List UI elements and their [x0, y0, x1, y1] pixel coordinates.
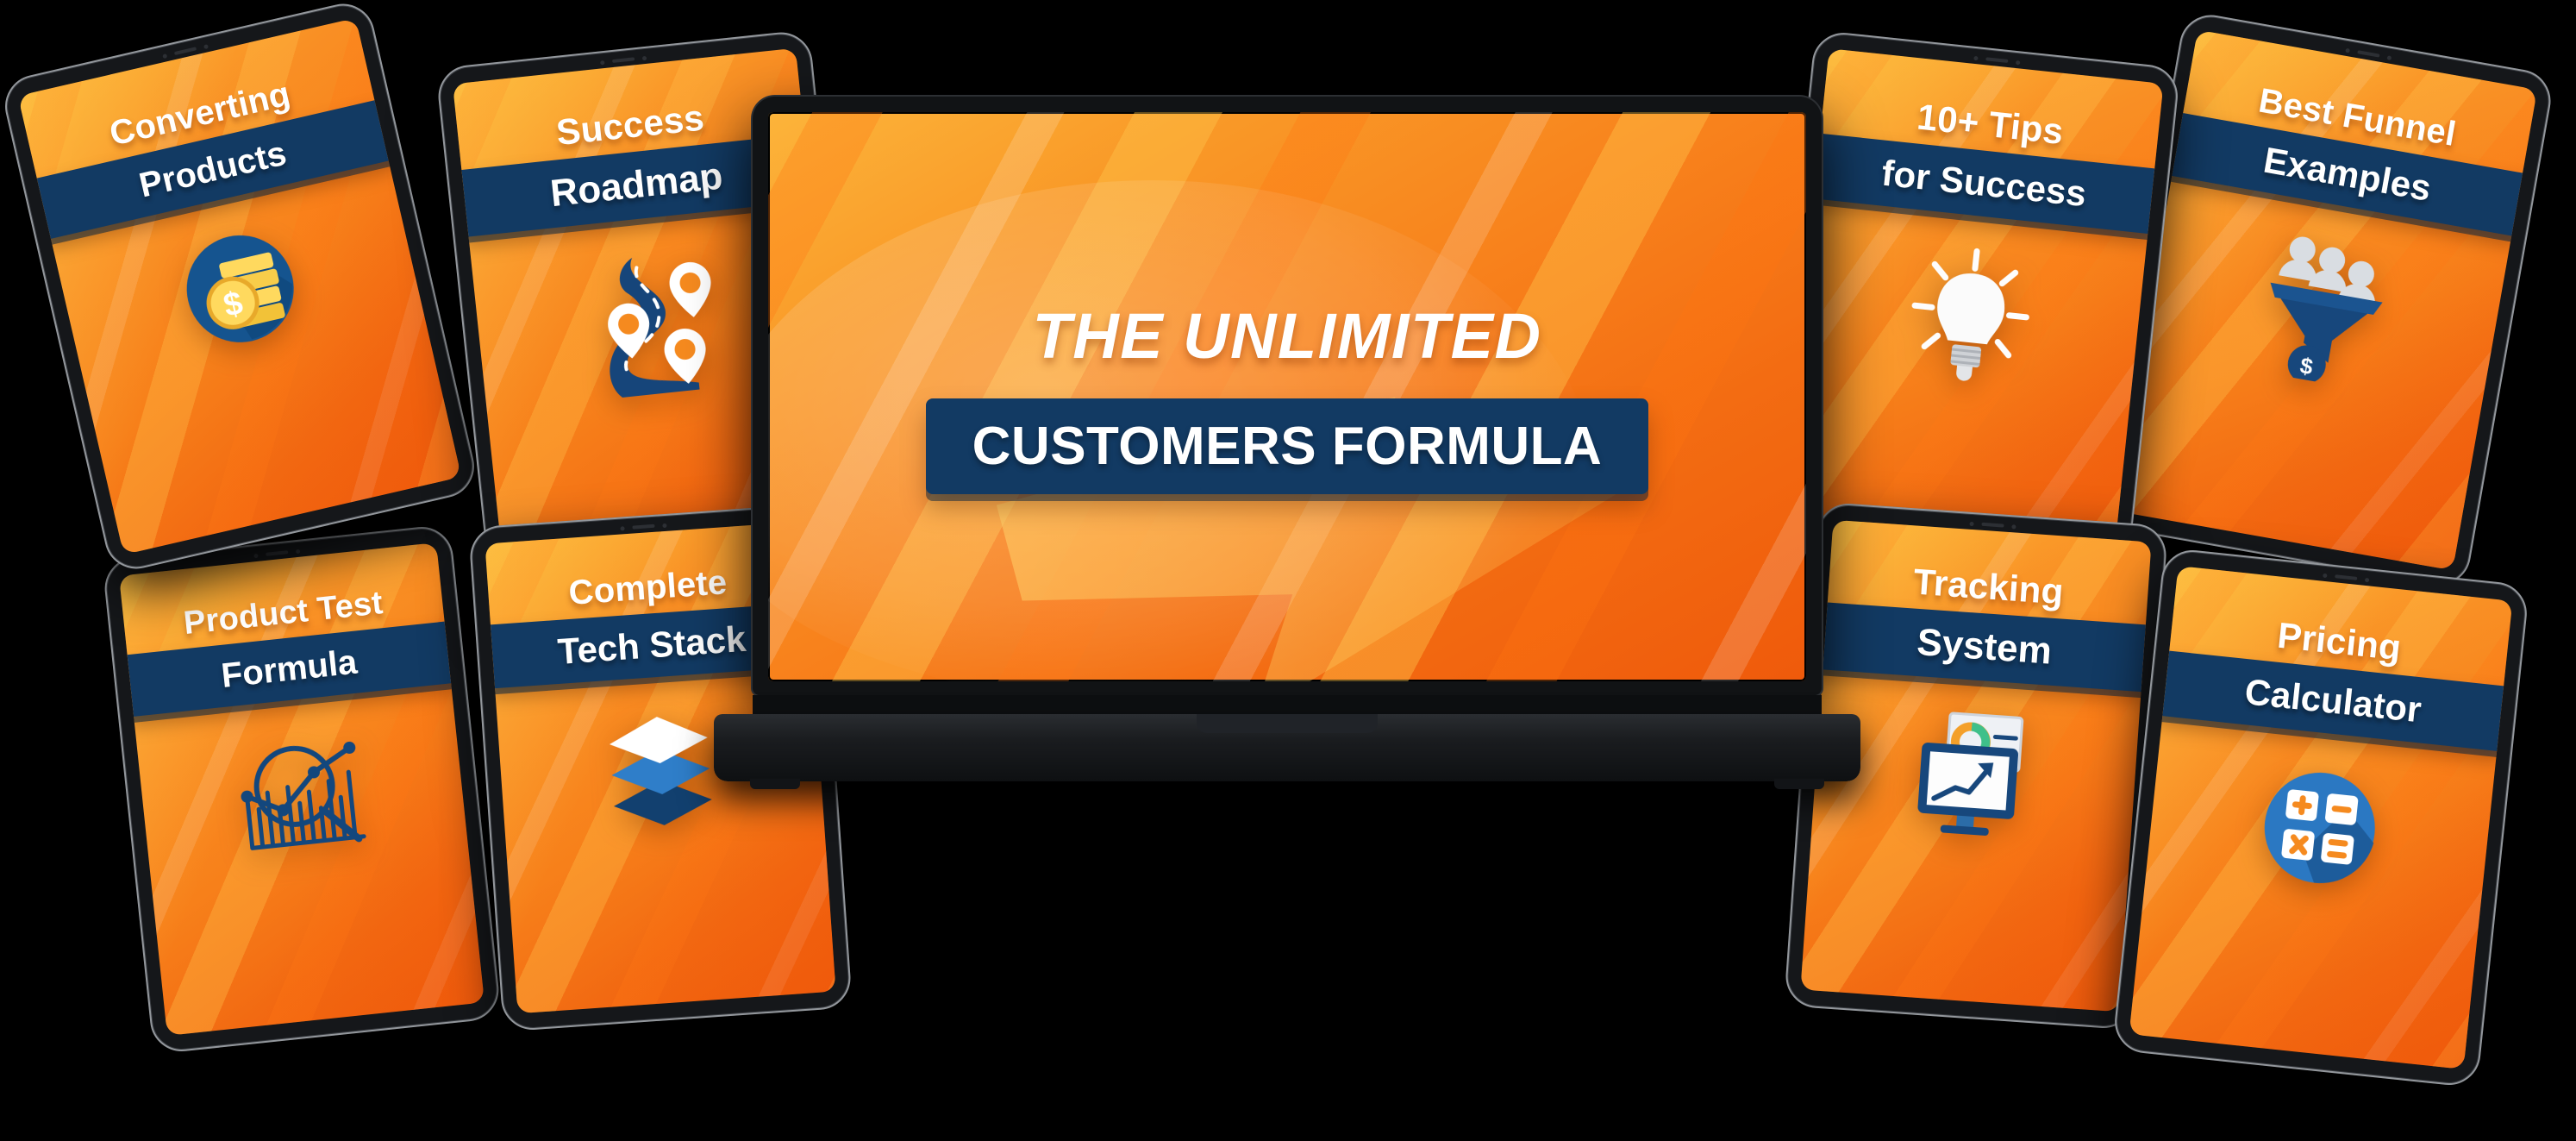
card-title-bottom: Calculator	[2233, 658, 2433, 743]
card-title-band: System	[1816, 602, 2152, 693]
card-title-top: 10+ Tips	[1916, 98, 2066, 150]
monitor-analytics-icon	[1902, 705, 2048, 843]
laptop-device[interactable]: THE UNLIMITED CUSTOMERS FORMULA	[714, 97, 1860, 781]
card-title-bottom: for Success	[1870, 139, 2098, 228]
product-bundle-mockup: Converting Products $	[0, 0, 2576, 1141]
card-title-top: Success	[554, 99, 705, 151]
laptop-base	[714, 714, 1860, 781]
card-title-bottom: Roadmap	[539, 142, 735, 229]
card-screen: Converting Products $	[18, 18, 462, 555]
card-title-top: Tracking	[1912, 564, 2065, 611]
card-screen: Best Funnel Examples	[2113, 30, 2537, 571]
roadmap-pins-icon	[575, 242, 728, 403]
card-screen: Product Test Formula	[119, 542, 485, 1036]
laptop-base-notch	[1197, 714, 1378, 733]
card-product-test-formula[interactable]: Product Test Formula	[104, 527, 498, 1052]
card-title-band: Formula	[121, 621, 457, 718]
laptop-title-band: CUSTOMERS FORMULA	[926, 398, 1649, 494]
calculator-icon	[2248, 756, 2391, 899]
lightbulb-icon	[1898, 240, 2041, 391]
laptop-title-line2: CUSTOMERS FORMULA	[972, 417, 1603, 476]
sales-funnel-icon: $	[2243, 224, 2404, 392]
laptop-screen: THE UNLIMITED CUSTOMERS FORMULA	[768, 112, 1806, 681]
chart-magnifier-icon	[227, 722, 377, 856]
laptop-title-line1: THE UNLIMITED	[1033, 299, 1542, 373]
laptop-foot-left	[750, 779, 800, 789]
card-title-band: Calculator	[2156, 650, 2510, 752]
layers-stack-icon	[591, 702, 728, 831]
card-screen: Pricing Calculator	[2129, 566, 2513, 1069]
card-title-bottom: Formula	[209, 630, 368, 708]
card-title-top: Pricing	[2276, 618, 2403, 667]
card-converting-products[interactable]: Converting Products $	[2, 1, 477, 572]
card-title-bottom: System	[1906, 609, 2063, 686]
card-title-top: Complete	[567, 566, 728, 611]
laptop-foot-right	[1774, 779, 1824, 789]
laptop-hinge	[753, 695, 1822, 714]
money-coins-icon: $	[168, 216, 313, 361]
laptop-lid: THE UNLIMITED CUSTOMERS FORMULA	[753, 97, 1822, 695]
card-pricing-calculator[interactable]: Pricing Calculator	[2115, 550, 2527, 1086]
